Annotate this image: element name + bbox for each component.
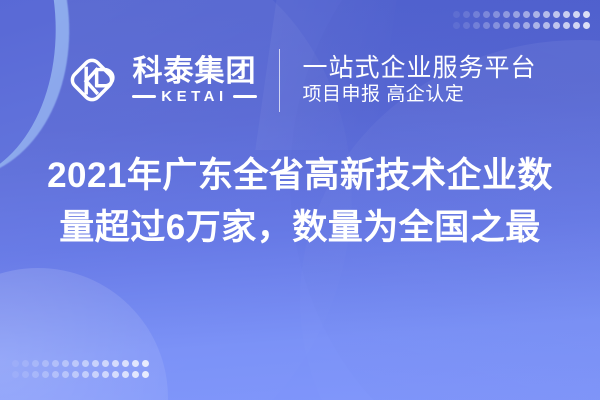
decorative-dot [82,360,89,367]
brand-rule-right [233,95,257,98]
decorative-dot [533,22,540,29]
decorative-dot [503,11,510,18]
ketai-diamond-monogram-icon [63,51,121,109]
decorative-dot [473,11,480,18]
headline-line: 2021年广东全省高新技术企业数 [47,152,553,200]
decorative-dot [463,11,470,18]
decorative-dot [463,22,470,29]
tagline-secondary: 项目申报 高企认定 [302,85,536,105]
decorative-dot [503,22,510,29]
decorative-dot [513,11,520,18]
decorative-dot [553,11,560,18]
decorative-dot [473,22,480,29]
decorative-dot [483,11,490,18]
decorative-dot [583,11,590,18]
tagline-block: 一站式企业服务平台 项目申报 高企认定 [280,55,536,105]
decorative-dot [583,22,590,29]
decorative-dot [112,371,119,378]
decorative-dot [513,22,520,29]
headline-line: 量超过6万家，数量为全国之最 [59,204,540,252]
decorative-dot [543,11,550,18]
decorative-dot [142,371,149,378]
decorative-dot [82,371,89,378]
decorative-dot [102,360,109,367]
decorative-dot [543,22,550,29]
decorative-dot [132,371,139,378]
decorative-dot [132,360,139,367]
brand-wordmark: 科泰集团 KETAI [132,57,256,104]
brand-name-cn: 科泰集团 [132,57,256,87]
decorative-dot [563,22,570,29]
brand-lockup: 科泰集团 KETAI [63,51,279,109]
decorative-dot [62,360,69,367]
decorative-dot [72,360,79,367]
promo-banner: 科泰集团 KETAI 一站式企业服务平台 项目申报 高企认定 2021年广东全省… [0,0,600,400]
decorative-dot [12,360,19,367]
decorative-dot [12,371,19,378]
decorative-dot [42,371,49,378]
decorative-dot [52,371,59,378]
blob-bottom-left-shape [0,268,168,400]
brand-rule-left [132,95,156,98]
decorative-dot [563,11,570,18]
decorative-dot [52,360,59,367]
decorative-dot [553,22,560,29]
decorative-dot [573,11,580,18]
headline-block: 2021年广东全省高新技术企业数 量超过6万家，数量为全国之最 [0,152,600,252]
decorative-dot [533,11,540,18]
decorative-dot [112,360,119,367]
decorative-dot [483,22,490,29]
decorative-dot [22,371,29,378]
brand-name-en: KETAI [161,89,227,104]
decorative-dot [523,22,530,29]
brand-name-en-row: KETAI [132,89,256,104]
dot-grid-top-right [453,11,590,29]
decorative-dot [22,360,29,367]
decorative-dot [453,22,460,29]
decorative-dot [32,360,39,367]
decorative-dot [573,22,580,29]
decorative-dot [102,371,109,378]
decorative-dot [72,371,79,378]
decorative-dot [62,371,69,378]
decorative-dot [32,371,39,378]
decorative-dot [42,360,49,367]
tagline-primary: 一站式企业服务平台 [302,55,536,81]
decorative-dot [453,11,460,18]
decorative-dot [523,11,530,18]
decorative-dot [92,360,99,367]
decorative-dot [122,371,129,378]
banner-header: 科泰集团 KETAI 一站式企业服务平台 项目申报 高企认定 [0,40,600,120]
dot-grid-bottom-left [12,360,149,378]
decorative-dot [493,22,500,29]
decorative-dot [92,371,99,378]
decorative-dot [122,360,129,367]
decorative-dot [493,11,500,18]
decorative-dot [142,360,149,367]
